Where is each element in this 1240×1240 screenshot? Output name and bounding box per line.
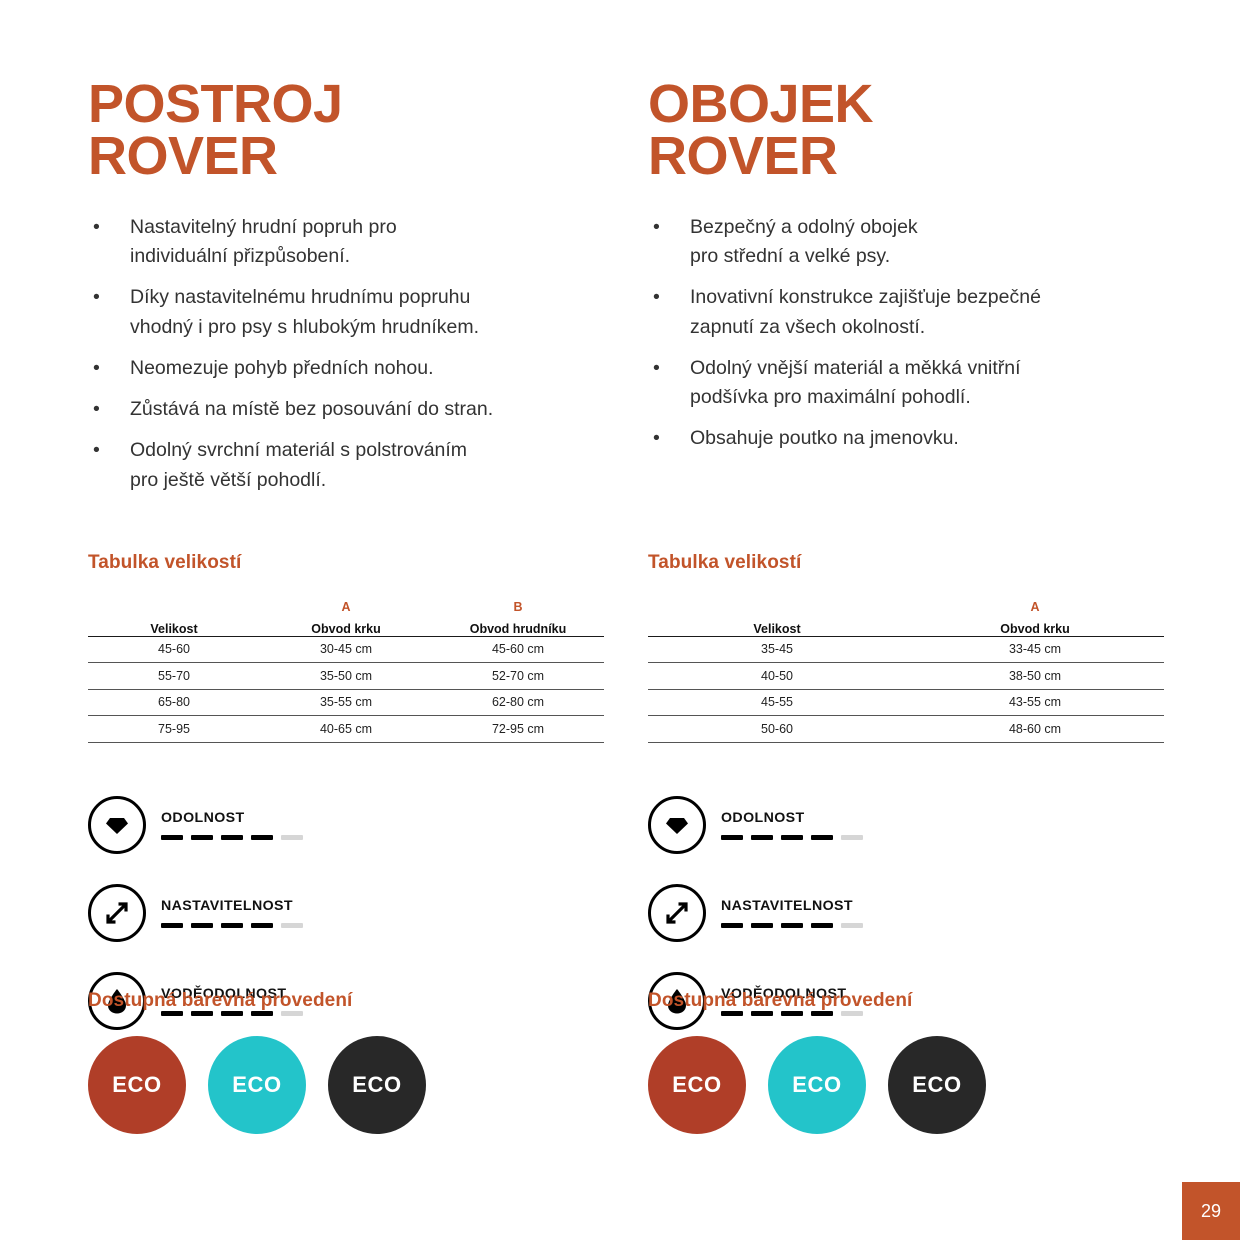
measure-label-row: A — [648, 596, 1164, 614]
color-swatch-black[interactable]: ECO — [328, 1036, 426, 1134]
rating-dashes — [161, 835, 303, 841]
rating-dash-filled — [721, 923, 743, 929]
list-item: • Neomezuje pohyb předních nohou. — [88, 354, 648, 383]
table-row: 50-60 48-60 cm — [648, 716, 1164, 743]
bullet-icon: • — [93, 283, 100, 312]
color-swatch-label: ECO — [792, 1072, 841, 1098]
page-number-badge: 29 — [1182, 1182, 1240, 1240]
feature-text: Nastavitelný hrudní popruh pro individuá… — [130, 213, 648, 272]
rating-dash-empty — [841, 923, 863, 929]
feature-text: Bezpečný a odolný obojek pro střední a v… — [690, 213, 1208, 272]
cell-obvod-krku: 35-50 cm — [260, 663, 432, 690]
list-item: • Bezpečný a odolný obojek pro střední a… — [648, 213, 1208, 272]
cell-obvod-krku: 33-45 cm — [906, 636, 1164, 663]
size-table: A B Velikost Obvod krku Obvod hrudníku 4… — [88, 596, 604, 743]
bullet-icon: • — [653, 283, 660, 312]
measure-label-a: A — [906, 596, 1164, 614]
rating-dash-filled — [751, 923, 773, 929]
cell-velikost: 50-60 — [648, 716, 906, 743]
color-options-obojek: Dostupná barevná provedení ECO ECO ECO — [648, 990, 1208, 1134]
cell-velikost: 40-50 — [648, 663, 906, 690]
attribute-label: ODOLNOST — [161, 810, 303, 826]
product-title-line-2: ROVER — [648, 130, 1208, 182]
feature-list-postroj: • Nastavitelný hrudní popruh pro individ… — [88, 213, 648, 495]
rating-dashes — [721, 923, 863, 929]
list-item: • Nastavitelný hrudní popruh pro individ… — [88, 213, 648, 272]
cell-obvod-krku: 35-55 cm — [260, 689, 432, 716]
feature-text: Odolný vnější materiál a měkká vnitřní p… — [690, 354, 1208, 413]
size-table-section-obojek: Tabulka velikostí A Velikost Obvod krku — [648, 552, 1164, 743]
cell-velikost: 45-60 — [88, 636, 260, 663]
measure-label-blank — [88, 596, 260, 614]
measure-label-b: B — [432, 596, 604, 614]
rating-dash-filled — [191, 835, 213, 841]
list-item: • Zůstává na místě bez posouvání do stra… — [88, 395, 648, 424]
page-title-postroj: POSTROJ ROVER — [88, 78, 648, 183]
rating-dash-filled — [191, 923, 213, 929]
cell-velikost: 75-95 — [88, 716, 260, 743]
color-swatch-rust[interactable]: ECO — [648, 1036, 746, 1134]
color-swatch-label: ECO — [232, 1072, 281, 1098]
measure-label-a: A — [260, 596, 432, 614]
list-item: • Díky nastavitelnému hrudnímu popruhu v… — [88, 283, 648, 342]
table-row: 45-55 43-55 cm — [648, 689, 1164, 716]
product-title-line-2: ROVER — [88, 130, 648, 182]
cell-obvod-krku: 43-55 cm — [906, 689, 1164, 716]
rating-dash-filled — [161, 923, 183, 929]
table-header-row: Velikost Obvod krku Obvod hrudníku — [88, 614, 604, 636]
product-columns: POSTROJ ROVER • Nastavitelný hrudní popr… — [0, 0, 1240, 507]
measure-label-blank — [648, 596, 906, 614]
rating-dash-filled — [781, 923, 803, 929]
rating-dash-filled — [251, 835, 273, 841]
table-row: 75-95 40-65 cm 72-95 cm — [88, 716, 604, 743]
color-swatch-row: ECO ECO ECO — [88, 1036, 648, 1134]
attribute-nastavitelnost: NASTAVITELNOST — [648, 884, 938, 942]
rating-dash-filled — [811, 923, 833, 929]
color-swatch-turquoise[interactable]: ECO — [208, 1036, 306, 1134]
color-swatch-label: ECO — [672, 1072, 721, 1098]
cell-obvod-krku: 38-50 cm — [906, 663, 1164, 690]
cell-obvod-hrudniku: 62-80 cm — [432, 689, 604, 716]
color-swatch-label: ECO — [912, 1072, 961, 1098]
diamond-icon — [648, 796, 706, 854]
bullet-icon: • — [653, 354, 660, 383]
rating-dash-filled — [221, 835, 243, 841]
column-header-velikost: Velikost — [648, 614, 906, 636]
cell-obvod-krku: 48-60 cm — [906, 716, 1164, 743]
attribute-odolnost: ODOLNOST — [88, 796, 378, 854]
rating-dashes — [161, 923, 303, 929]
attribute-label: NASTAVITELNOST — [161, 898, 303, 914]
catalog-page: POSTROJ ROVER • Nastavitelný hrudní popr… — [0, 0, 1240, 1240]
rating-dash-filled — [811, 835, 833, 841]
color-options-postroj: Dostupná barevná provedení ECO ECO ECO — [88, 990, 648, 1134]
bullet-icon: • — [653, 424, 660, 453]
list-item: • Odolný svrchní materiál s polstrováním… — [88, 436, 648, 495]
measure-label-row: A B — [88, 596, 604, 614]
table-row: 55-70 35-50 cm 52-70 cm — [88, 663, 604, 690]
feature-text: Odolný svrchní materiál s polstrováním p… — [130, 436, 648, 495]
bullet-icon: • — [93, 436, 100, 465]
color-swatch-row: ECO ECO ECO — [648, 1036, 1208, 1134]
cell-obvod-krku: 30-45 cm — [260, 636, 432, 663]
page-title-obojek: OBOJEK ROVER — [648, 78, 1208, 183]
attribute-nastavitelnost: NASTAVITELNOST — [88, 884, 378, 942]
resize-arrow-icon — [648, 884, 706, 942]
size-table-heading: Tabulka velikostí — [88, 552, 604, 574]
size-table-section-postroj: Tabulka velikostí A B Velikost Obvod krk… — [88, 552, 604, 743]
cell-velikost: 65-80 — [88, 689, 260, 716]
bullet-icon: • — [93, 395, 100, 424]
feature-list-obojek: • Bezpečný a odolný obojek pro střední a… — [648, 213, 1208, 454]
bullet-icon: • — [93, 213, 100, 242]
table-header-row: Velikost Obvod krku — [648, 614, 1164, 636]
cell-velikost: 55-70 — [88, 663, 260, 690]
color-swatch-turquoise[interactable]: ECO — [768, 1036, 866, 1134]
column-header-obvod-hrudniku: Obvod hrudníku — [432, 614, 604, 636]
resize-arrow-icon — [88, 884, 146, 942]
column-header-obvod-krku: Obvod krku — [260, 614, 432, 636]
diamond-icon — [88, 796, 146, 854]
color-options-heading: Dostupná barevná provedení — [88, 990, 648, 1012]
rating-dash-filled — [251, 923, 273, 929]
feature-text: Neomezuje pohyb předních nohou. — [130, 354, 648, 383]
cell-obvod-hrudniku: 45-60 cm — [432, 636, 604, 663]
feature-text: Díky nastavitelnému hrudnímu popruhu vho… — [130, 283, 648, 342]
rating-dash-filled — [221, 923, 243, 929]
size-table: A Velikost Obvod krku 35-45 33-45 cm — [648, 596, 1164, 743]
color-swatch-label: ECO — [352, 1072, 401, 1098]
table-row: 40-50 38-50 cm — [648, 663, 1164, 690]
feature-text: Obsahuje poutko na jmenovku. — [690, 424, 1208, 453]
rating-dash-filled — [161, 835, 183, 841]
size-table-heading: Tabulka velikostí — [648, 552, 1164, 574]
product-title-line-1: OBOJEK — [648, 78, 1208, 130]
attribute-odolnost: ODOLNOST — [648, 796, 938, 854]
feature-text: Inovativní konstrukce zajišťuje bezpečné… — [690, 283, 1208, 342]
product-column-postroj: POSTROJ ROVER • Nastavitelný hrudní popr… — [88, 0, 648, 507]
table-row: 35-45 33-45 cm — [648, 636, 1164, 663]
cell-obvod-hrudniku: 72-95 cm — [432, 716, 604, 743]
color-swatch-rust[interactable]: ECO — [88, 1036, 186, 1134]
attribute-label: NASTAVITELNOST — [721, 898, 863, 914]
feature-text: Zůstává na místě bez posouvání do stran. — [130, 395, 648, 424]
attribute-label: ODOLNOST — [721, 810, 863, 826]
rating-dash-empty — [841, 835, 863, 841]
rating-dash-filled — [781, 835, 803, 841]
column-header-velikost: Velikost — [88, 614, 260, 636]
rating-dash-empty — [281, 923, 303, 929]
list-item: • Inovativní konstrukce zajišťuje bezpeč… — [648, 283, 1208, 342]
bullet-icon: • — [93, 354, 100, 383]
rating-dash-filled — [721, 835, 743, 841]
color-swatch-label: ECO — [112, 1072, 161, 1098]
list-item: • Odolný vnější materiál a měkká vnitřní… — [648, 354, 1208, 413]
table-row: 45-60 30-45 cm 45-60 cm — [88, 636, 604, 663]
rating-dashes — [721, 835, 863, 841]
product-title-line-1: POSTROJ — [88, 78, 648, 130]
list-item: • Obsahuje poutko na jmenovku. — [648, 424, 1208, 453]
column-header-obvod-krku: Obvod krku — [906, 614, 1164, 636]
rating-dash-empty — [281, 835, 303, 841]
color-options-heading: Dostupná barevná provedení — [648, 990, 1208, 1012]
cell-velikost: 45-55 — [648, 689, 906, 716]
cell-velikost: 35-45 — [648, 636, 906, 663]
color-swatch-black[interactable]: ECO — [888, 1036, 986, 1134]
product-column-obojek: OBOJEK ROVER • Bezpečný a odolný obojek … — [648, 0, 1208, 507]
rating-dash-filled — [751, 835, 773, 841]
table-row: 65-80 35-55 cm 62-80 cm — [88, 689, 604, 716]
cell-obvod-krku: 40-65 cm — [260, 716, 432, 743]
cell-obvod-hrudniku: 52-70 cm — [432, 663, 604, 690]
bullet-icon: • — [653, 213, 660, 242]
page-number: 29 — [1201, 1201, 1221, 1222]
